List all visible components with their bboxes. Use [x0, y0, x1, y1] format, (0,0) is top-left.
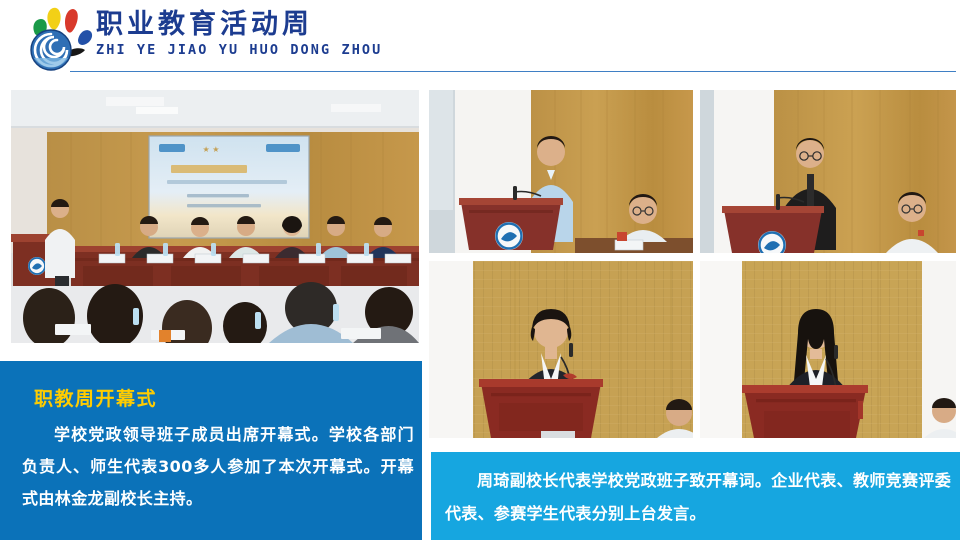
brand-title-block: 职业教育活动周 ZHI YE JIAO YU HUO DONG ZHOU	[96, 9, 382, 59]
opening-ceremony-text-panel: 职教周开幕式 学校党政领导班子成员出席开幕式。学校各部门负责人、师生代表300多…	[0, 361, 422, 540]
zhiye-education-week-logo-icon	[22, 6, 98, 72]
brand-title-en: ZHI YE JIAO YU HUO DONG ZHOU	[96, 42, 382, 59]
svg-text:★ ★: ★ ★	[203, 145, 220, 154]
panel-left-heading: 职教周开幕式	[34, 384, 157, 411]
brand-title-cn: 职业教育活动周	[96, 9, 382, 41]
panel-left-body: 学校党政领导班子成员出席开幕式。学校各部门负责人、师生代表300多人参加了本次开…	[22, 419, 414, 515]
speaker-female-long-hair-photo	[700, 261, 956, 438]
opening-ceremony-panel-photo: ★ ★	[11, 90, 419, 343]
panel-right-body: 周琦副校长代表学校党政班子致开幕词。企业代表、教师竞赛评委代表、参赛学生代表分别…	[445, 464, 951, 530]
header-divider	[70, 71, 956, 72]
slide-root: 职业教育活动周 ZHI YE JIAO YU HUO DONG ZHOU	[0, 0, 960, 540]
speaker-blue-shirt-photo	[429, 90, 693, 253]
slide-header: 职业教育活动周 ZHI YE JIAO YU HUO DONG ZHOU	[0, 0, 960, 80]
speeches-text-panel: 周琦副校长代表学校党政班子致开幕词。企业代表、教师竞赛评委代表、参赛学生代表分别…	[431, 452, 960, 540]
speaker-female-short-hair-photo	[429, 261, 693, 438]
speaker-black-shirt-photo	[700, 90, 956, 253]
